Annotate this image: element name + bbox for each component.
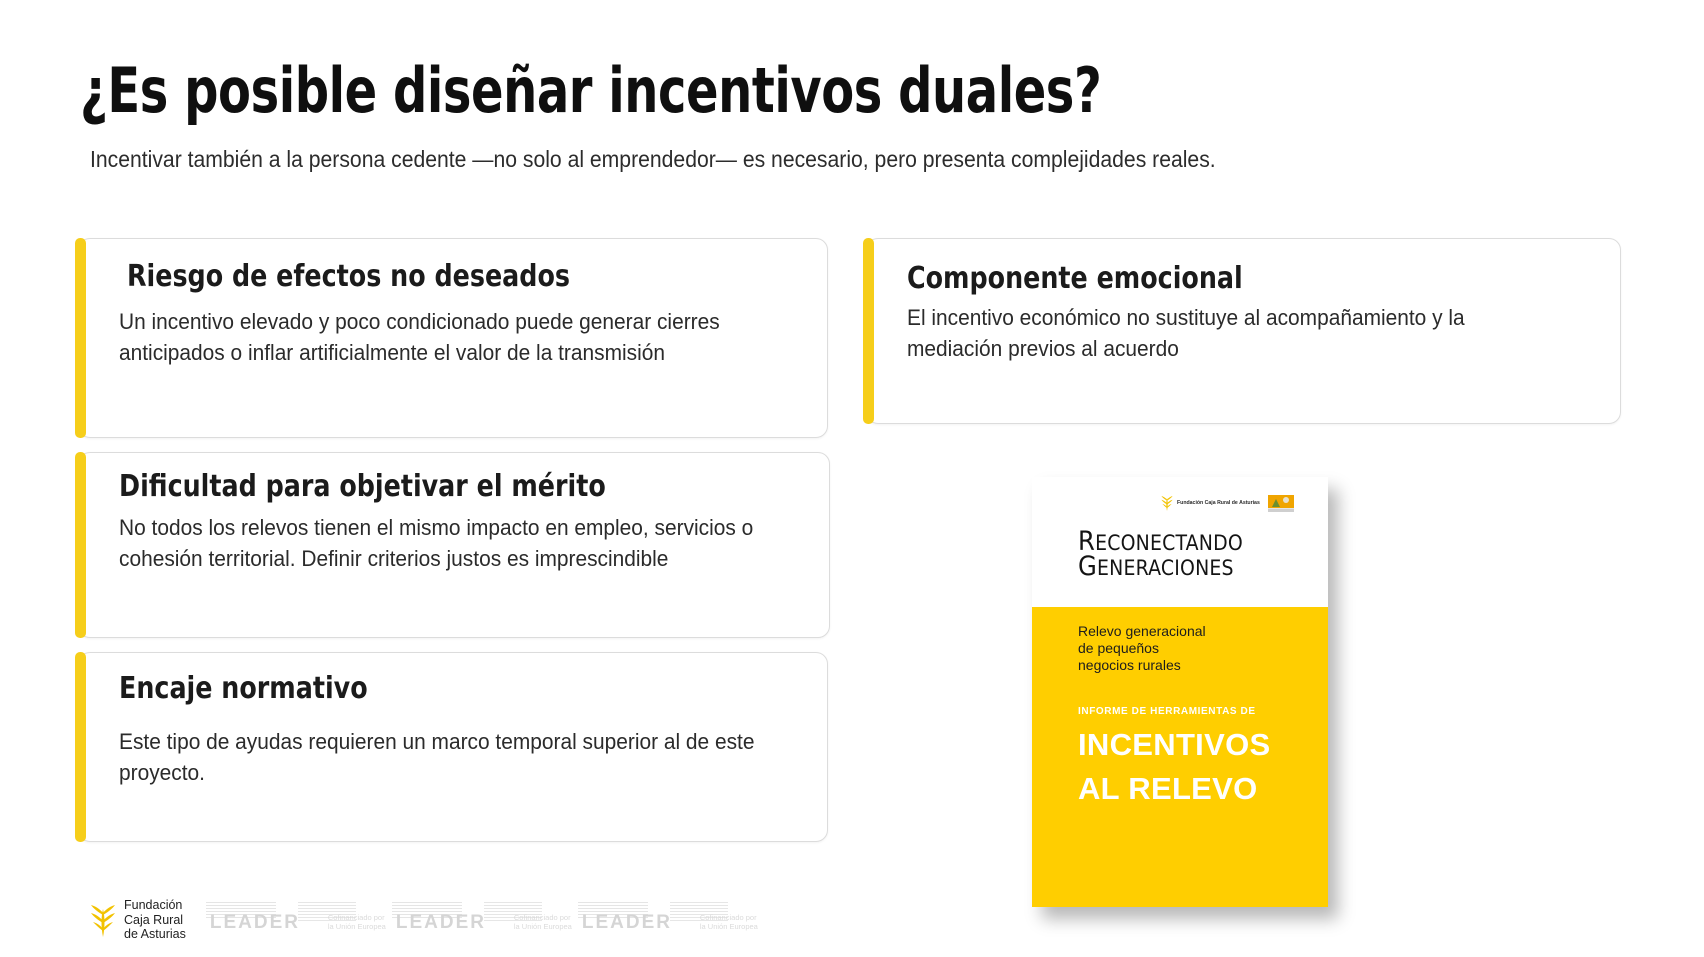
card-riesgo-efectos-no-deseados: Riesgo de efectos no deseados Un incenti… bbox=[78, 238, 828, 438]
page-subtitle: Incentivar también a la persona cedente … bbox=[90, 146, 1216, 173]
cofinanced-label: Cofinanciado por la Unión Europea bbox=[700, 914, 758, 931]
cover-headline-line-2: AL RELEVO bbox=[1078, 771, 1258, 807]
fundacion-caja-rural-footer-logo: Fundación Caja Rural de Asturias bbox=[88, 898, 186, 942]
wheat-icon bbox=[88, 903, 118, 937]
leader-label: LEADER bbox=[396, 912, 486, 934]
card-dificultad-objetivar-merito: Dificultad para objetivar el mérito No t… bbox=[78, 452, 830, 638]
card-componente-emocional: Componente emocional El incentivo económ… bbox=[866, 238, 1621, 424]
footer-logo-strip: Fundación Caja Rural de Asturias LEADER … bbox=[88, 896, 760, 944]
accent-bar-icon bbox=[75, 238, 86, 438]
cover-yellow-panel: Relevo generacional de pequeños negocios… bbox=[1032, 607, 1328, 907]
cover-subtitle: Relevo generacional de pequeños negocios… bbox=[1078, 623, 1206, 674]
accent-bar-icon bbox=[75, 452, 86, 638]
card-title: Encaje normativo bbox=[119, 671, 760, 706]
cover-top-white-area: Fundación Caja Rural de Asturias RECONEC… bbox=[1032, 477, 1328, 607]
report-cover-thumbnail: Fundación Caja Rural de Asturias RECONEC… bbox=[1032, 477, 1328, 907]
card-text: Un incentivo elevado y poco condicionado… bbox=[119, 306, 767, 368]
card-text: No todos los relevos tienen el mismo imp… bbox=[119, 512, 769, 574]
card-title: Riesgo de efectos no deseados bbox=[127, 259, 761, 294]
card-encaje-normativo: Encaje normativo Este tipo de ayudas req… bbox=[78, 652, 828, 842]
leader-logo-block: LEADER Cofinanciado por la Unión Europea bbox=[388, 900, 574, 940]
wheat-icon bbox=[1160, 495, 1174, 511]
cover-brand-rest-2: ENERACIONES bbox=[1097, 556, 1234, 580]
partner-logo-icon bbox=[1268, 495, 1294, 512]
cover-logo-text: Fundación Caja Rural de Asturias bbox=[1177, 500, 1260, 506]
cofinanced-label: Cofinanciado por la Unión Europea bbox=[514, 914, 572, 931]
card-title: Componente emocional bbox=[907, 261, 1553, 296]
card-text: El incentivo económico no sustituye al a… bbox=[907, 302, 1560, 364]
cover-brand-rest-1: ECONECTANDO bbox=[1095, 531, 1243, 555]
leader-label: LEADER bbox=[582, 912, 672, 934]
card-text: Este tipo de ayudas requieren un marco t… bbox=[119, 726, 767, 788]
accent-bar-icon bbox=[863, 238, 874, 424]
leader-label: LEADER bbox=[210, 912, 300, 934]
footer-foundation-text: Fundación Caja Rural de Asturias bbox=[124, 898, 186, 942]
leader-logo-block: LEADER Cofinanciado por la Unión Europea bbox=[202, 900, 388, 940]
fundacion-caja-rural-logo: Fundación Caja Rural de Asturias bbox=[1160, 495, 1260, 511]
card-body: Componente emocional El incentivo económ… bbox=[907, 239, 1594, 423]
cover-kicker: INFORME DE HERRAMIENTAS DE bbox=[1078, 706, 1256, 717]
card-body: Encaje normativo Este tipo de ayudas req… bbox=[119, 653, 801, 841]
cover-brand-title: RECONECTANDO GENERACIONES bbox=[1078, 530, 1243, 580]
cofinanced-label: Cofinanciado por la Unión Europea bbox=[328, 914, 386, 931]
leader-logo-block: LEADER Cofinanciado por la Unión Europea bbox=[574, 900, 760, 940]
cover-brand-line-2: GENERACIONES bbox=[1078, 555, 1243, 580]
cover-logo-group: Fundación Caja Rural de Asturias bbox=[1160, 495, 1294, 512]
page-title: ¿Es posible diseñar incentivos duales? bbox=[80, 54, 1101, 127]
cover-brand-cap-2: G bbox=[1078, 551, 1097, 582]
cover-headline-line-1: INCENTIVOS bbox=[1078, 727, 1270, 763]
card-title: Dificultad para objetivar el mérito bbox=[119, 469, 762, 504]
eu-funding-logos: LEADER Cofinanciado por la Unión Europea… bbox=[202, 900, 760, 940]
accent-bar-icon bbox=[75, 652, 86, 842]
slide-root: ¿Es posible diseñar incentivos duales? I… bbox=[0, 0, 1704, 957]
card-body: Dificultad para objetivar el mérito No t… bbox=[119, 453, 803, 637]
card-body: Riesgo de efectos no deseados Un incenti… bbox=[119, 239, 801, 437]
cover-brand-line-1: RECONECTANDO bbox=[1078, 530, 1243, 555]
